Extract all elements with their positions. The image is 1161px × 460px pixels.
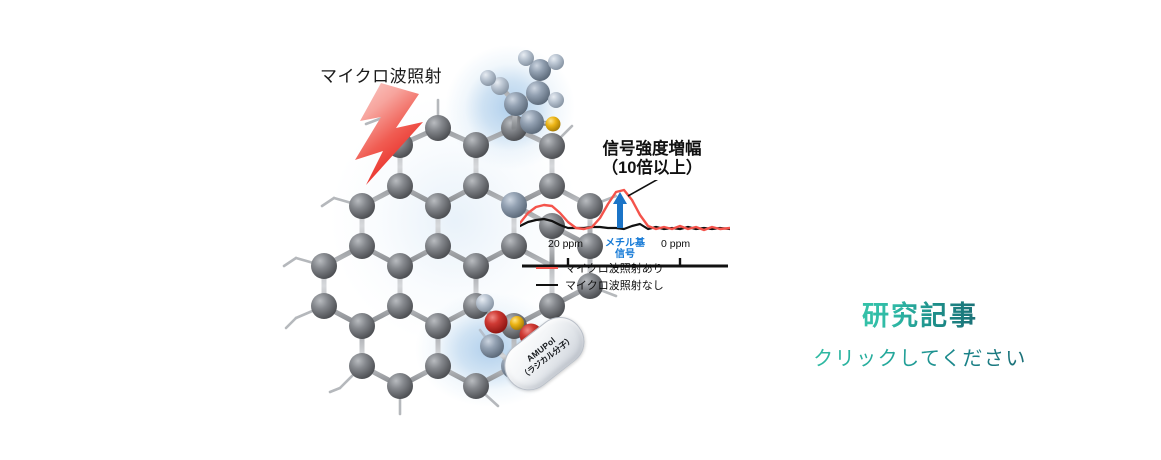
methyl-annot-line2: 信号 [594,249,656,260]
microwave-irradiation-label: マイクロ波照射 [320,62,442,87]
callout-leader-line [628,180,660,196]
research-article-link[interactable]: 研究記事 クリックしてください [770,300,1070,371]
research-article-title[interactable]: 研究記事 [862,300,978,334]
research-article-click-prompt[interactable]: クリックしてください [813,342,1027,371]
methyl-signal-annotation: メチル基 信号 [594,238,656,260]
spectrum-plot [520,180,730,242]
legend-swatch-red-icon [536,267,558,269]
amplification-arrow-icon [613,192,627,228]
legend-label-with-microwave: マイクロ波照射あり [565,260,664,276]
figure-canvas: マイクロ波照射 信号強度増幅 （10倍以上） [0,0,1161,460]
oxygen-atom-a [485,311,508,334]
series-with-microwave [520,190,730,230]
capsule-body: AMUPol （ラジカル分子） [495,307,595,400]
capsule-text: AMUPol （ラジカル分子） [496,309,593,399]
spectrum-title-line1: 信号強度増幅 [603,140,702,158]
sulfur-atom-top [546,117,561,132]
legend-label-no-microwave: マイクロ波照射なし [565,277,664,293]
spectrum-legend: マイクロ波照射あり マイクロ波照射なし [536,260,736,294]
legend-item-with-microwave: マイクロ波照射あり [536,260,736,275]
sulfur-atom-bottom [510,316,524,330]
methyl-annot-line1: メチル基 [594,238,656,249]
legend-swatch-black-icon [536,284,558,286]
axis-tick-20ppm: 20 ppm [548,238,583,250]
legend-item-no-microwave: マイクロ波照射なし [536,277,736,292]
spectrum-title: 信号強度増幅 （10倍以上） [572,140,732,179]
amupol-capsule-tag: AMUPol （ラジカル分子） [495,309,592,399]
axis-tick-0ppm: 0 ppm [661,238,690,250]
spectrum-title-line2: （10倍以上） [572,159,732,178]
nmr-spectrum-panel: 信号強度増幅 （10倍以上） [520,138,730,298]
